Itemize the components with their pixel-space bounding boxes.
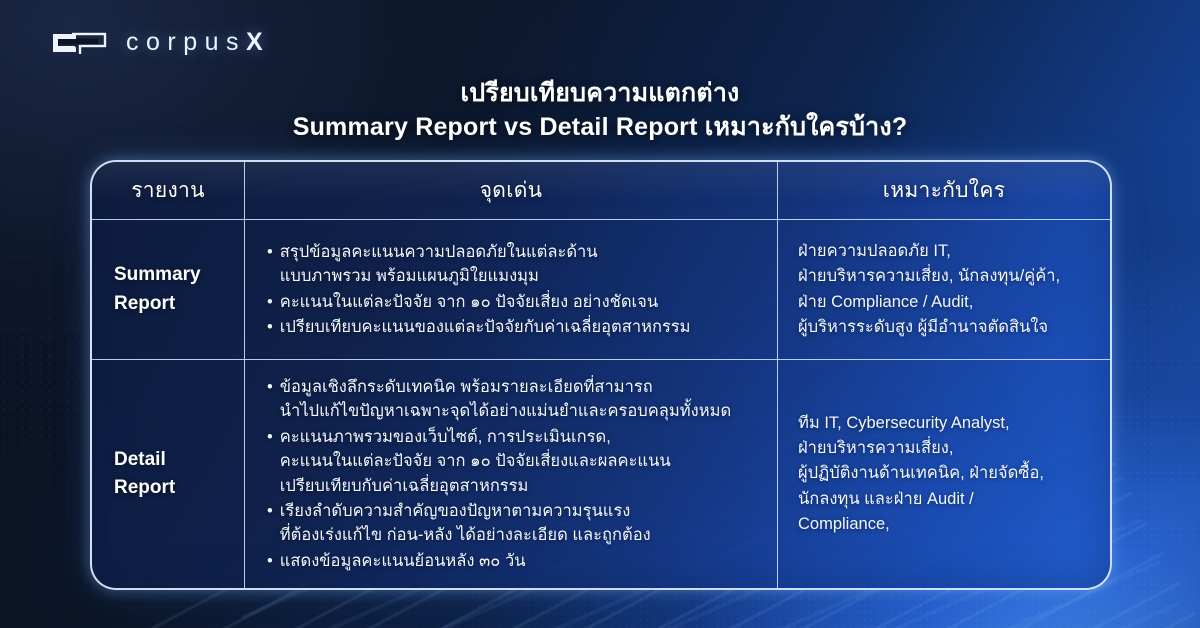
list-item-text: ข้อมูลเชิงลึกระดับเทคนิค พร้อมรายละเอียด…	[280, 375, 731, 424]
list-item: • เรียงลำดับความสำคัญของปัญหาตามความรุนแ…	[267, 499, 761, 548]
row-label-summary-line-2: Report	[114, 290, 175, 319]
list-item: • คะแนนในแต่ละปัจจัย จาก ๑๐ ปัจจัยเสี่ยง…	[267, 290, 761, 314]
row-label-detail: Detail Report	[92, 360, 244, 588]
bullet-icon: •	[267, 290, 273, 314]
table-header-highlights-label: จุดเด่น	[480, 174, 543, 207]
row-audience-detail-text: ทีม IT, Cybersecurity Analyst, ฝ่ายบริหา…	[778, 360, 1110, 588]
list-item-text: คะแนนภาพรวมของเว็บไซต์, การประเมินเกรด, …	[280, 425, 671, 498]
comparison-table: รายงาน จุดเด่น เหมาะกับใคร Summary Repor…	[90, 160, 1112, 590]
bullet-icon: •	[267, 499, 273, 523]
slide-canvas: corpusX เปรียบเทียบความแตกต่าง Summary R…	[0, 0, 1200, 628]
list-item: • เปรียบเทียบคะแนนของแต่ละปัจจัยกับค่าเฉ…	[267, 315, 761, 339]
cp-monogram-icon	[50, 30, 108, 56]
list-item-text: คะแนนในแต่ละปัจจัย จาก ๑๐ ปัจจัยเสี่ยง อ…	[280, 290, 658, 314]
table-header-row: รายงาน จุดเด่น เหมาะกับใคร	[92, 162, 1110, 220]
bullet-icon: •	[267, 375, 273, 399]
row-audience-summary-text: ฝ่ายความปลอดภัย IT, ฝ่ายบริหารความเสี่ยง…	[778, 220, 1110, 359]
page-title-line-2: Summary Report vs Detail Report เหมาะกับ…	[0, 112, 1200, 143]
list-item: • คะแนนภาพรวมของเว็บไซต์, การประเมินเกรด…	[267, 425, 761, 498]
row-highlights-detail: • ข้อมูลเชิงลึกระดับเทคนิค พร้อมรายละเอี…	[244, 360, 778, 588]
table-header-audience: เหมาะกับใคร	[778, 162, 1110, 219]
table-header-audience-label: เหมาะกับใคร	[883, 174, 1006, 207]
brand-wordmark-suffix: X	[246, 28, 263, 56]
table-header-report: รายงาน	[92, 162, 244, 219]
row-audience-detail: ทีม IT, Cybersecurity Analyst, ฝ่ายบริหา…	[778, 360, 1110, 588]
table-row: Detail Report • ข้อมูลเชิงลึกระดับเทคนิค…	[92, 360, 1110, 588]
brand-wordmark-text: corpus	[126, 28, 246, 56]
bullet-icon: •	[267, 315, 273, 339]
list-item: • สรุปข้อมูลคะแนนความปลอดภัยในแต่ละด้าน …	[267, 240, 761, 289]
table-row: Summary Report • สรุปข้อมูลคะแนนความปลอด…	[92, 220, 1110, 360]
list-item: • แสดงข้อมูลคะแนนย้อนหลัง ๓๐ วัน	[267, 549, 761, 573]
list-item: • ข้อมูลเชิงลึกระดับเทคนิค พร้อมรายละเอี…	[267, 375, 761, 424]
page-title: เปรียบเทียบความแตกต่าง Summary Report vs…	[0, 78, 1200, 143]
list-item-text: สรุปข้อมูลคะแนนความปลอดภัยในแต่ละด้าน แบ…	[280, 240, 598, 289]
bullet-icon: •	[267, 549, 273, 573]
brand-wordmark: corpusX	[126, 28, 263, 57]
row-label-summary: Summary Report	[92, 220, 244, 359]
table-header-highlights: จุดเด่น	[244, 162, 778, 219]
row-highlights-summary: • สรุปข้อมูลคะแนนความปลอดภัยในแต่ละด้าน …	[244, 220, 778, 359]
brand-logo: corpusX	[50, 28, 263, 57]
row-label-summary-line-1: Summary	[114, 261, 201, 290]
row-label-detail-line-2: Report	[114, 474, 175, 503]
row-audience-summary: ฝ่ายความปลอดภัย IT, ฝ่ายบริหารความเสี่ยง…	[778, 220, 1110, 359]
list-item-text: เปรียบเทียบคะแนนของแต่ละปัจจัยกับค่าเฉลี…	[280, 315, 691, 339]
bullet-icon: •	[267, 240, 273, 264]
bullet-icon: •	[267, 425, 273, 449]
table-header-report-label: รายงาน	[131, 174, 205, 207]
row-label-detail-line-1: Detail	[114, 446, 166, 475]
page-title-line-1: เปรียบเทียบความแตกต่าง	[0, 78, 1200, 109]
list-item-text: แสดงข้อมูลคะแนนย้อนหลัง ๓๐ วัน	[280, 549, 526, 573]
list-item-text: เรียงลำดับความสำคัญของปัญหาตามความรุนแรง…	[280, 499, 651, 548]
